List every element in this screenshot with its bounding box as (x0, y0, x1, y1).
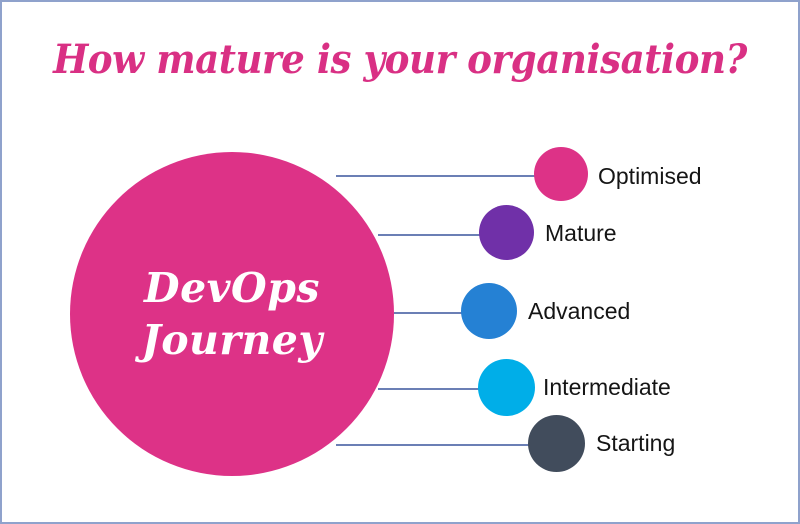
hub-circle-devops-journey: DevOps Journey (70, 152, 394, 476)
hub-label-line-1: DevOps (144, 262, 320, 314)
node-dot-advanced[interactable] (461, 283, 517, 339)
connector-line-starting (336, 444, 532, 446)
connector-line-intermediate (378, 388, 482, 390)
node-label-starting: Starting (596, 432, 675, 455)
connector-line-optimised (336, 175, 536, 177)
infographic-canvas: How mature is your organisation? DevOps … (0, 0, 800, 524)
hub-label-line-2: Journey (141, 314, 322, 366)
connector-line-advanced (394, 312, 464, 314)
node-dot-starting[interactable] (528, 415, 585, 472)
connector-line-mature (378, 234, 481, 236)
node-dot-mature[interactable] (479, 205, 534, 260)
node-label-optimised: Optimised (598, 165, 702, 188)
node-label-intermediate: Intermediate (543, 376, 671, 399)
node-label-mature: Mature (545, 222, 617, 245)
page-title: How mature is your organisation? (30, 36, 770, 83)
node-dot-optimised[interactable] (534, 147, 588, 201)
node-dot-intermediate[interactable] (478, 359, 535, 416)
node-label-advanced: Advanced (528, 300, 630, 323)
